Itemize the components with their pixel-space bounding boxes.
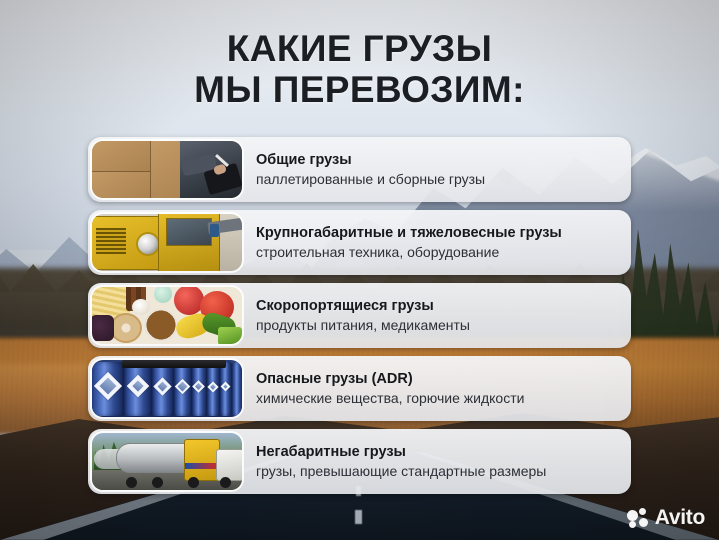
food-assortment-icon — [92, 287, 242, 344]
avito-dots-icon — [627, 508, 649, 528]
avito-wordmark: Avito — [655, 507, 705, 528]
list-item-title: Опасные грузы (ADR) — [256, 371, 524, 388]
avito-watermark: Avito — [627, 507, 705, 528]
list-item[interactable]: Скоропортящиеся грузы продукты питания, … — [88, 283, 631, 348]
page-title-line-2: МЫ ПЕРЕВОЗИМ: — [0, 69, 719, 110]
construction-machine-icon — [92, 214, 242, 271]
list-item[interactable]: Общие грузы паллетированные и сборные гр… — [88, 137, 631, 202]
list-item[interactable]: Крупногабаритные и тяжеловесные грузы ст… — [88, 210, 631, 275]
list-item-text: Скоропортящиеся грузы продукты питания, … — [242, 298, 480, 334]
list-item-title: Скоропортящиеся грузы — [256, 298, 470, 315]
list-item-title: Общие грузы — [256, 152, 485, 169]
list-item[interactable]: Негабаритные грузы грузы, превышающие ст… — [88, 429, 631, 494]
list-item-subtitle: паллетированные и сборные грузы — [256, 171, 485, 188]
list-item-text: Крупногабаритные и тяжеловесные грузы ст… — [242, 225, 572, 261]
list-item-text: Негабаритные грузы грузы, превышающие ст… — [242, 444, 556, 480]
list-item-title: Негабаритные грузы — [256, 444, 546, 461]
page-title: КАКИЕ ГРУЗЫ МЫ ПЕРЕВОЗИМ: — [0, 28, 719, 110]
oversized-load-truck-icon — [92, 433, 242, 490]
list-item-subtitle: химические вещества, горючие жидкости — [256, 390, 524, 407]
list-item-title: Крупногабаритные и тяжеловесные грузы — [256, 225, 562, 242]
page-title-line-1: КАКИЕ ГРУЗЫ — [0, 28, 719, 69]
cardboard-boxes-icon — [92, 141, 242, 198]
cargo-type-list: Общие грузы паллетированные и сборные гр… — [88, 137, 631, 502]
hazmat-barrels-icon — [92, 360, 242, 417]
list-item-subtitle: грузы, превышающие стандартные размеры — [256, 463, 546, 480]
list-item[interactable]: Опасные грузы (ADR) химические вещества,… — [88, 356, 631, 421]
list-item-text: Общие грузы паллетированные и сборные гр… — [242, 152, 495, 188]
promo-image: КАКИЕ ГРУЗЫ МЫ ПЕРЕВОЗИМ: Общие грузы па… — [0, 0, 719, 540]
list-item-subtitle: строительная техника, оборудование — [256, 244, 562, 261]
list-item-subtitle: продукты питания, медикаменты — [256, 317, 470, 334]
list-item-text: Опасные грузы (ADR) химические вещества,… — [242, 371, 534, 407]
